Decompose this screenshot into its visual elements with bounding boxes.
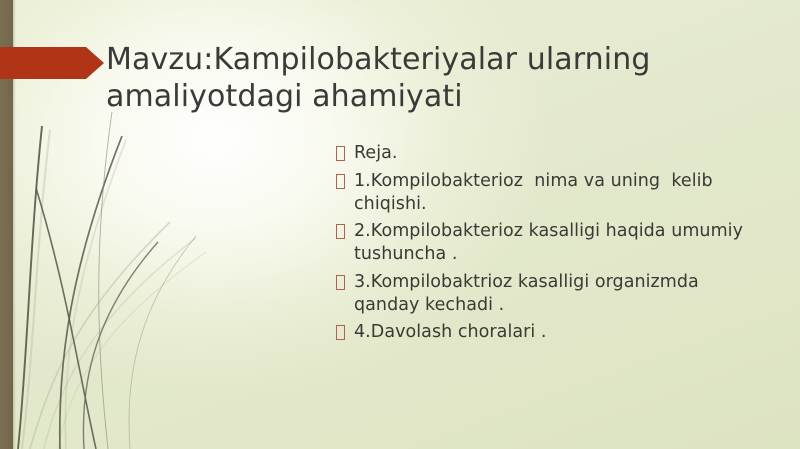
list-item-text: 3.Kompilobaktrioz kasalligi organizmda q… [354, 271, 756, 317]
list-item-text: 2.Kompilobakterioz kasalligi haqida umum… [354, 220, 756, 266]
list-item-text: Reja. [354, 142, 756, 165]
list-item: 1.Kompilobakterioz nima va uning kelib c… [336, 170, 756, 216]
bullet-box-icon [336, 146, 345, 161]
bullet-box-icon [336, 174, 345, 189]
bullet-box-icon [336, 224, 345, 239]
presentation-slide: Mavzu:Kampilobakteriyalar ularning amali… [0, 0, 800, 449]
list-item: 4.Davolash choralari . [336, 321, 756, 344]
list-item: 3.Kompilobaktrioz kasalligi organizmda q… [336, 271, 756, 317]
bullet-box-icon [336, 325, 345, 340]
title-arrow-icon [0, 47, 104, 79]
slide-title: Mavzu:Kampilobakteriyalar ularning amali… [106, 42, 726, 115]
list-item-text: 1.Kompilobakterioz nima va uning kelib c… [354, 170, 756, 216]
list-item-text: 4.Davolash choralari . [354, 321, 756, 344]
agenda-list: Reja. 1.Kompilobakterioz nima va uning k… [336, 142, 756, 349]
list-item: 2.Kompilobakterioz kasalligi haqida umum… [336, 220, 756, 266]
bullet-box-icon [336, 275, 345, 290]
list-item: Reja. [336, 142, 756, 165]
